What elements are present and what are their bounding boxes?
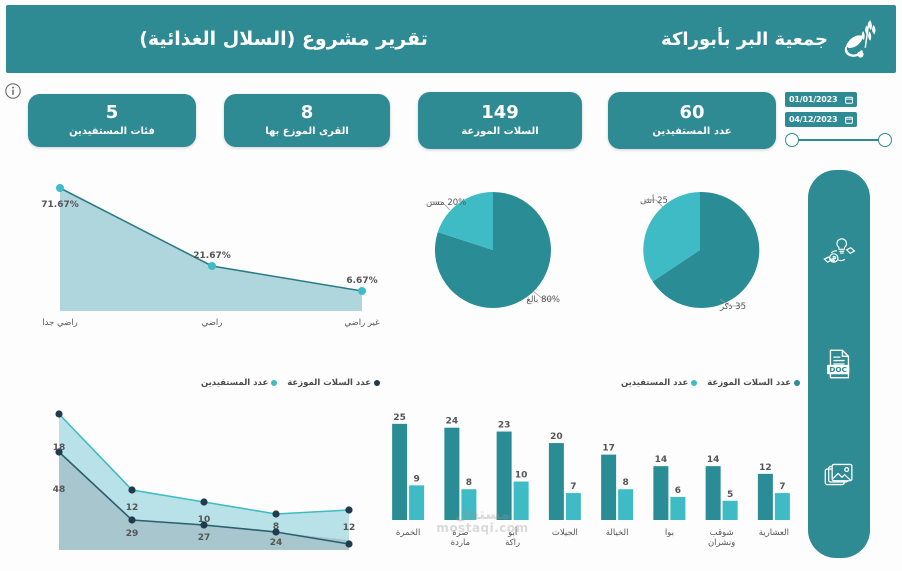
end-date-pill[interactable]: 04/12/2023 — [785, 112, 857, 127]
legend-label: عدد المستفيدين — [201, 378, 268, 388]
gender-distribution-pie-chart: 25 أنثى 35 ذكر — [600, 178, 800, 320]
legend-swatch-icon — [794, 380, 800, 386]
bar-value-label: 6 — [675, 486, 681, 496]
age-slice-label-elderly: 20% مسن — [426, 198, 466, 208]
baskets-value-label: 29 — [126, 529, 139, 539]
villages-bar-chart: عدد السلات الموزعة عدد المستفيدين 259الخ… — [382, 378, 800, 558]
baskets-value-label: 48 — [53, 485, 66, 495]
bar-beneficiaries[interactable] — [618, 489, 633, 520]
village-axis-tick: العشارية — [759, 528, 789, 538]
brand-name: جمعية البر بأبوراكة — [661, 29, 828, 50]
kpi-value: 149 — [481, 104, 519, 123]
bar-value-label: 23 — [498, 421, 511, 431]
bar-baskets[interactable] — [497, 432, 512, 520]
category-chart-svg: 18 12 10 8 12 48 29 27 24 اسر سجناء مطلق… — [22, 392, 380, 550]
bar-baskets[interactable] — [758, 474, 773, 520]
satisfaction-value-label: 71.67% — [41, 200, 79, 210]
kpi-value: 5 — [106, 104, 119, 123]
legend-item-beneficiaries[interactable]: عدد المستفيدين — [201, 378, 277, 388]
bar-value-label: 17 — [602, 444, 615, 454]
calendar-icon — [845, 96, 853, 104]
date-range-filter[interactable]: 01/01/2023 04/12/2023 — [785, 92, 897, 148]
bar-value-label: 14 — [707, 455, 720, 465]
image-gallery-icon[interactable] — [819, 456, 859, 496]
village-axis-tick: شوقبونشران — [708, 528, 735, 548]
kpi-row: 5 فئات المستفيدين 8 القرى الموزع بها 149… — [28, 94, 776, 150]
app-header: جمعية البر بأبوراكة تقرير مشروع (السلال … — [6, 5, 896, 73]
kpi-label: السلات الموزعة — [461, 126, 538, 137]
satisfaction-axis-tick: راضي جدا — [42, 318, 78, 328]
village-chart-legend: عدد السلات الموزعة عدد المستفيدين — [382, 378, 800, 388]
wheat-logo-icon — [836, 16, 882, 62]
kpi-card-villages[interactable]: 8 القرى الموزع بها — [224, 94, 390, 147]
bar-baskets[interactable] — [444, 428, 459, 520]
bar-value-label: 8 — [622, 478, 628, 488]
bar-baskets[interactable] — [549, 443, 564, 520]
beneficiaries-value-label: 10 — [198, 515, 211, 525]
brand-block: جمعية البر بأبوراكة — [641, 16, 896, 62]
bar-beneficiaries[interactable] — [775, 493, 790, 520]
funding-idea-icon[interactable] — [819, 232, 859, 272]
kpi-label: عدد المستفيدين — [652, 126, 731, 137]
start-date-pill[interactable]: 01/01/2023 — [785, 92, 857, 107]
gender-slice-label-male: 35 ذكر — [719, 302, 746, 312]
bar-value-label: 14 — [655, 455, 668, 465]
legend-label: عدد السلات الموزعة — [707, 378, 791, 388]
legend-swatch-icon — [691, 380, 697, 386]
villages-bar-svg: 259الخمرة248صرةماردة2310أبوراكة207الجيلا… — [382, 392, 800, 550]
legend-label: عدد السلات الموزعة — [287, 378, 371, 388]
satisfaction-point[interactable] — [56, 184, 64, 192]
start-date-value: 01/01/2023 — [789, 95, 837, 104]
bar-value-label: 20 — [550, 432, 563, 442]
bar-baskets[interactable] — [392, 424, 407, 520]
bar-value-label: 7 — [570, 482, 576, 492]
beneficiaries-value-label: 12 — [126, 503, 139, 513]
beneficiaries-value-label: 8 — [273, 522, 279, 532]
doc-file-label: DOC — [829, 365, 847, 374]
page-title: تقرير مشروع (السلال الغذائية) — [6, 28, 641, 50]
bar-baskets[interactable] — [653, 466, 668, 520]
satisfaction-axis-tick: راضي — [202, 318, 223, 328]
village-axis-tick: الخمرة — [396, 528, 421, 538]
kpi-card-baskets-distributed[interactable]: 149 السلات الموزعة — [418, 92, 582, 149]
bar-beneficiaries[interactable] — [409, 485, 424, 520]
satisfaction-value-label: 21.67% — [193, 251, 231, 261]
bar-value-label: 5 — [727, 490, 733, 500]
bar-beneficiaries[interactable] — [670, 497, 685, 520]
slider-handle-start[interactable] — [785, 133, 799, 147]
bar-value-label: 9 — [413, 474, 419, 484]
bar-baskets[interactable] — [601, 455, 616, 520]
bar-value-label: 7 — [779, 482, 785, 492]
bar-beneficiaries[interactable] — [566, 493, 581, 520]
legend-item-baskets[interactable]: عدد السلات الموزعة — [707, 378, 800, 388]
satisfaction-value-label: 6.67% — [346, 276, 377, 286]
kpi-value: 60 — [679, 104, 704, 123]
legend-swatch-icon — [271, 380, 277, 386]
baskets-value-label: 27 — [198, 533, 211, 543]
village-axis-tick: صرةماردة — [451, 528, 471, 548]
legend-item-baskets[interactable]: عدد السلات الموزعة — [287, 378, 380, 388]
dashboard-page: جمعية البر بأبوراكة تقرير مشروع (السلال … — [0, 0, 902, 571]
gender-slice-label-female: 25 أنثى — [640, 194, 668, 206]
slider-handle-end[interactable] — [878, 133, 892, 147]
village-axis-tick: الخيالة — [606, 528, 629, 538]
legend-label: عدد المستفيدين — [621, 378, 688, 388]
kpi-label: فئات المستفيدين — [69, 126, 155, 137]
bar-value-label: 24 — [446, 417, 459, 427]
info-circle-icon[interactable] — [4, 82, 22, 100]
bar-value-label: 8 — [466, 478, 472, 488]
date-range-slider[interactable] — [785, 132, 892, 148]
legend-swatch-icon — [374, 380, 380, 386]
satisfaction-area-fill — [60, 188, 362, 311]
bar-value-label: 25 — [393, 413, 406, 423]
category-chart-legend: عدد السلات الموزعة عدد المستفيدين — [22, 378, 380, 388]
age-pie-svg: 20% مسن 80% بالغ — [390, 178, 605, 320]
beneficiary-categories-chart: عدد السلات الموزعة عدد المستفيدين — [22, 378, 380, 558]
legend-item-beneficiaries[interactable]: عدد المستفيدين — [621, 378, 697, 388]
bar-value-label: 10 — [515, 471, 528, 481]
kpi-value: 8 — [301, 104, 314, 123]
village-axis-tick: الجيلات — [552, 528, 578, 538]
age-slice-label-adult: 80% بالغ — [526, 295, 560, 305]
satisfaction-chart: 71.67% 21.67% 6.67% راضي جدا راضي غير را… — [22, 170, 392, 335]
satisfaction-axis-tick: غير راضي — [344, 318, 380, 328]
bar-beneficiaries[interactable] — [514, 482, 529, 520]
gender-pie-svg: 25 أنثى 35 ذكر — [600, 178, 800, 320]
satisfaction-point[interactable] — [208, 262, 216, 270]
age-distribution-pie-chart: 20% مسن 80% بالغ — [390, 178, 605, 320]
doc-file-icon[interactable]: DOC — [819, 344, 859, 384]
right-toolbar: DOC — [808, 170, 870, 558]
kpi-label: القرى الموزع بها — [265, 126, 349, 137]
bar-value-label: 12 — [759, 463, 772, 473]
calendar-icon — [845, 116, 853, 124]
village-axis-tick: أبوراكة — [505, 526, 520, 548]
satisfaction-chart-svg: 71.67% 21.67% 6.67% راضي جدا راضي غير را… — [22, 170, 392, 335]
kpi-card-beneficiaries-count[interactable]: 60 عدد المستفيدين — [608, 92, 776, 149]
satisfaction-point[interactable] — [358, 287, 366, 295]
bar-baskets[interactable] — [706, 466, 721, 520]
baskets-value-label: 24 — [270, 538, 283, 548]
beneficiaries-value-label: 12 — [343, 523, 356, 533]
slider-track — [792, 139, 885, 141]
beneficiaries-value-label: 18 — [53, 443, 66, 453]
bar-beneficiaries[interactable] — [723, 501, 738, 520]
kpi-card-beneficiary-categories[interactable]: 5 فئات المستفيدين — [28, 94, 196, 147]
end-date-value: 04/12/2023 — [789, 115, 837, 124]
bar-beneficiaries[interactable] — [461, 489, 476, 520]
village-axis-tick: بوا — [665, 528, 674, 538]
